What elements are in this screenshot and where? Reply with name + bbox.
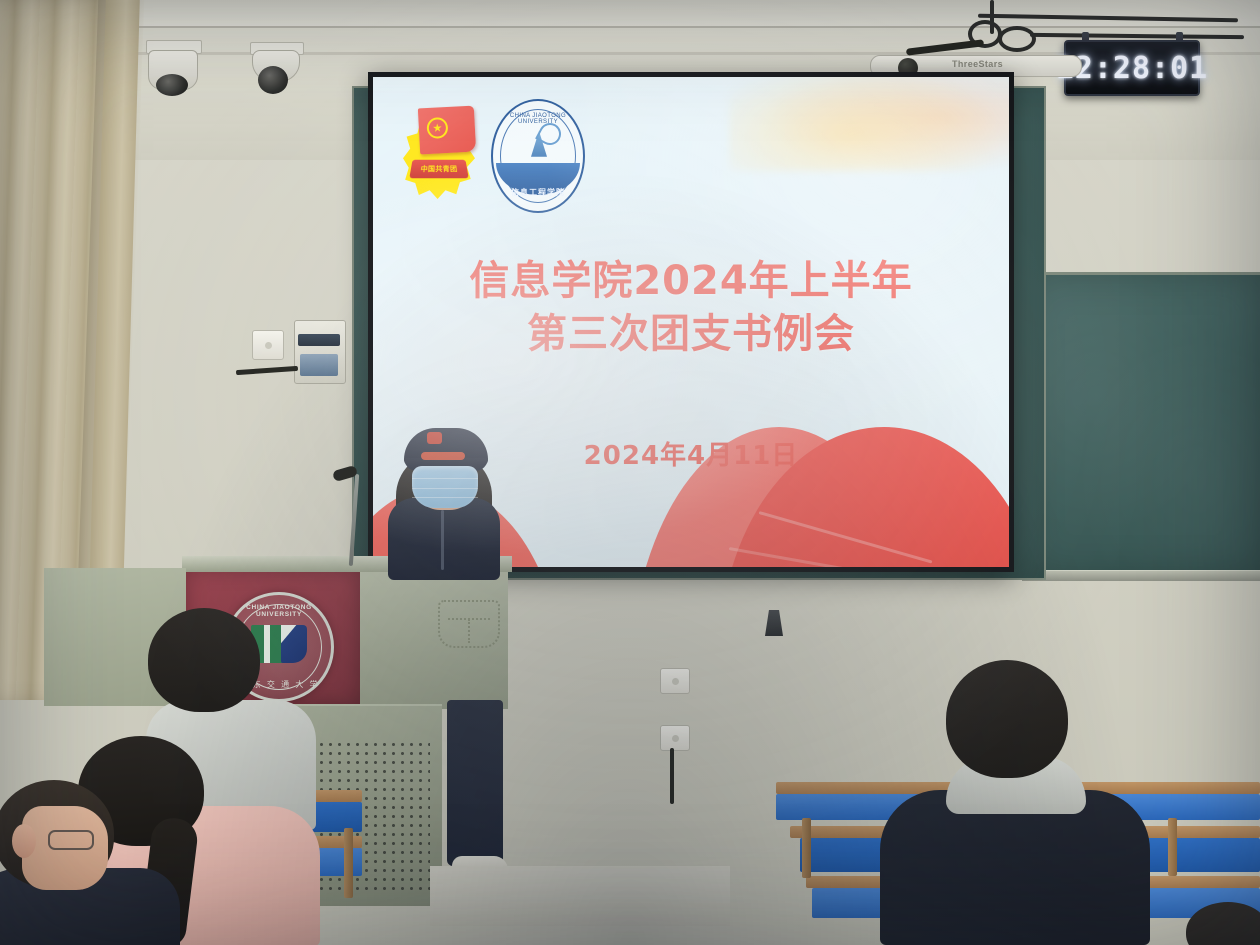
podium-logo-icon-right: [438, 600, 500, 648]
chair-leg-right-b: [1168, 818, 1177, 876]
mask-fold-3: [412, 497, 478, 498]
camera-lens-right-icon: [258, 66, 288, 94]
hill-streak-a: [759, 511, 933, 563]
communist-youth-league-emblem-icon: 中国共青团: [401, 105, 479, 205]
presenter-jacket: [388, 498, 500, 580]
university-seal-logo-icon: CHINA JIAOTONG UNIVERSITY 信息工程学院: [491, 99, 581, 209]
chair-leg-left-b: [344, 828, 353, 898]
ceiling-band: [0, 0, 1260, 28]
electrical-box-label: [300, 354, 338, 376]
classroom-photo-scene: 12:28:01 ThreeStars 中国共青团: [0, 0, 1260, 945]
chalk-dust: [1025, 275, 1260, 575]
slide-decoration-top-right: [729, 77, 1009, 171]
student-right-head: [946, 660, 1068, 778]
seal-inner-text: 信息工程学院: [493, 187, 583, 198]
wall-outlet-center-upper: [660, 668, 690, 694]
student-mid-left-head: [148, 608, 260, 712]
chalk-tray-right: [1022, 570, 1260, 581]
presenter-face-mask: [412, 466, 478, 508]
roller-brand-label: ThreeStars: [952, 59, 1062, 69]
mask-fold-2: [412, 488, 478, 489]
wall-wire-center: [670, 748, 674, 804]
ceiling-cable-loop-b: [998, 26, 1036, 52]
presenter-legs: [447, 700, 503, 866]
seal-outer-text: CHINA JIAOTONG UNIVERSITY: [493, 113, 583, 125]
seal-shield-blue: [281, 625, 307, 663]
glasses-icon: [48, 830, 94, 850]
slide-date: 2024年4月11日: [373, 435, 1009, 472]
blackboard-right: [1022, 272, 1260, 578]
cyl-ribbon: 中国共青团: [409, 160, 468, 178]
podium-seal-outer-text: CHINA JIAOTONG UNIVERSITY: [227, 604, 331, 618]
seal-oval: CHINA JIAOTONG UNIVERSITY 信息工程学院: [491, 99, 585, 213]
wall-digital-clock: 12:28:01: [1064, 40, 1200, 96]
chair-leg-right-a: [802, 818, 811, 878]
cyl-ribbon-text: 中国共青团: [420, 164, 458, 174]
student-front-left-glasses-ear: [12, 824, 36, 858]
hill-streak-b: [729, 547, 936, 567]
camera-lens-left-icon: [156, 74, 188, 96]
slide-title: 信息学院2024年上半年 第三次团支书例会: [373, 255, 1009, 361]
floor-area: [430, 866, 730, 926]
electrical-box-slot: [298, 334, 340, 346]
seal-shield-gap: [264, 625, 270, 663]
wall-outlet-center-lower: [660, 725, 690, 751]
wall-outlet-left: [252, 330, 284, 360]
cyl-star-icon: [426, 117, 448, 139]
mask-fold-1: [412, 478, 478, 479]
presenter-jacket-zipper: [441, 510, 444, 570]
cyl-flag: [418, 106, 476, 155]
slide-title-line-2: 第三次团支书例会: [373, 308, 1009, 361]
slide-title-line-1: 信息学院2024年上半年: [373, 255, 1009, 308]
